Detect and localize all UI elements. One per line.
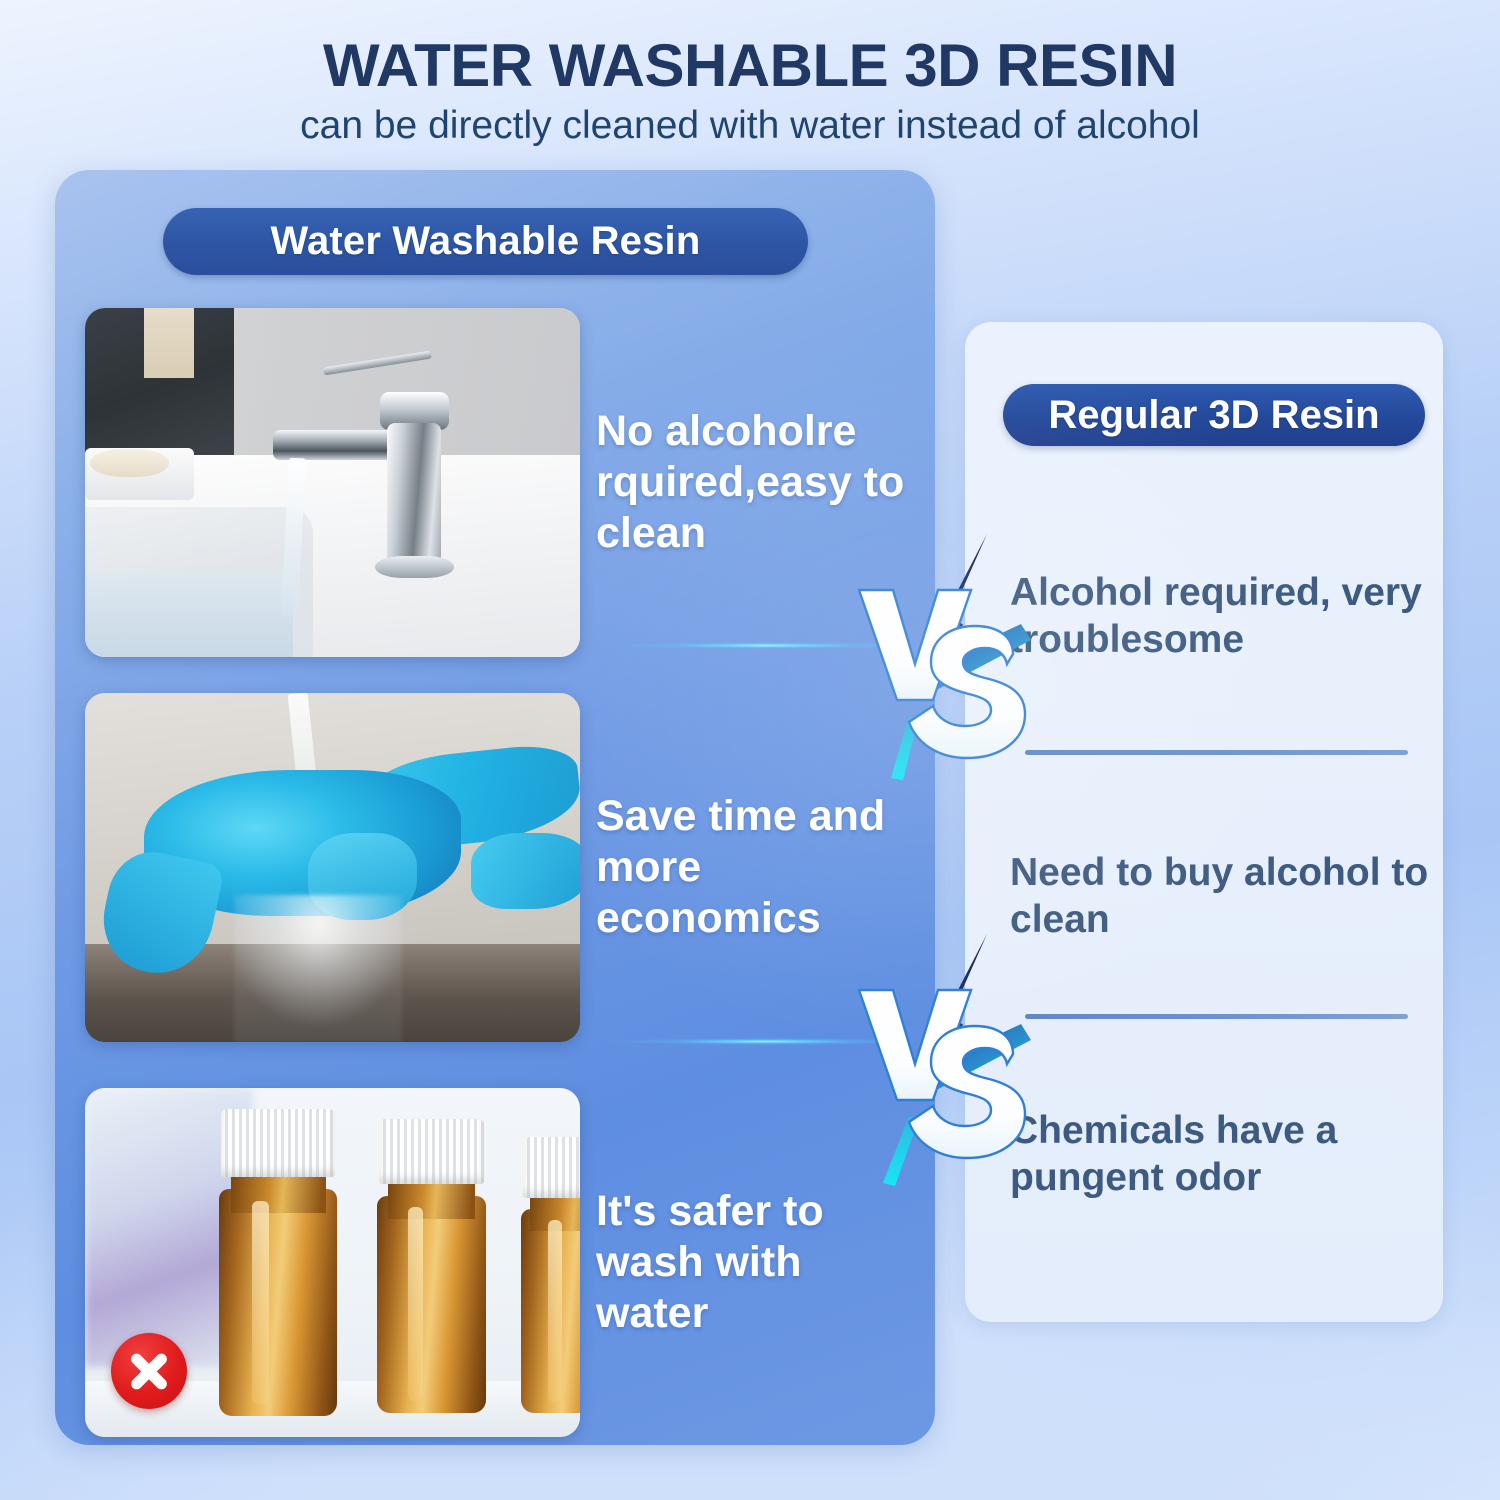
benefit-row-1: No alcoholre rquired,easy to clean [55,305,935,660]
dragon-wing-tip [471,833,580,910]
benefit-row-2: Save time and more economics [55,690,935,1045]
amber-bottle-3 [521,1137,580,1413]
drawback-text-2: Need to buy alcohol to clean [1010,850,1430,944]
bottle-cap [523,1137,580,1198]
bottle-highlight [408,1207,423,1400]
page-title: WATER WASHABLE 3D RESIN [0,34,1500,97]
benefit-text-2: Save time and more economics [596,791,916,943]
page-header: WATER WASHABLE 3D RESIN can be directly … [0,0,1500,148]
benefit-row-3: It's safer to wash with water [55,1085,935,1440]
regular-resin-badge: Regular 3D Resin [1003,384,1425,446]
water-washable-resin-badge-label: Water Washable Resin [270,219,700,264]
amber-bottle-2 [377,1119,486,1412]
water-washable-resin-panel: Water Washable Resin No alcoholre rquire… [55,170,935,1445]
x-mark-icon [111,1333,187,1409]
basin-water [85,573,293,657]
bottle-highlight [252,1201,269,1404]
amber-bottle-1 [219,1109,338,1416]
page-subtitle: can be directly cleaned with water inste… [0,105,1500,148]
bottle-cap [221,1109,335,1177]
faucet-body [387,423,441,577]
blue-resin-dragon-rinsing-photo [85,693,580,1042]
drawback-text-3: Chemicals have a pungent odor [1010,1108,1430,1202]
drawback-divider-1 [1025,750,1408,755]
glow-divider-2 [600,1038,930,1045]
faucet-running-water-photo [85,308,580,657]
soap-bar [90,449,169,477]
drawback-text-1: Alcohol required, very troublesome [1010,570,1430,664]
regular-resin-panel: Regular 3D Resin Alcohol required, very … [965,322,1443,1322]
regular-resin-badge-label: Regular 3D Resin [1048,393,1379,438]
bottle-cap [379,1119,484,1183]
amber-chemical-bottles-photo [85,1088,580,1437]
bottle-glass [377,1196,486,1413]
bottle-highlight [548,1220,562,1402]
faucet-base [375,556,454,579]
benefit-text-1: No alcoholre rquired,easy to clean [596,406,916,558]
hanging-towel [144,308,194,378]
benefit-text-3: It's safer to wash with water [596,1186,916,1338]
water-splash [234,895,402,1042]
bottle-glass [219,1189,338,1416]
glow-divider-1 [600,642,930,649]
water-washable-resin-badge: Water Washable Resin [163,208,808,275]
drawback-divider-2 [1025,1014,1408,1019]
